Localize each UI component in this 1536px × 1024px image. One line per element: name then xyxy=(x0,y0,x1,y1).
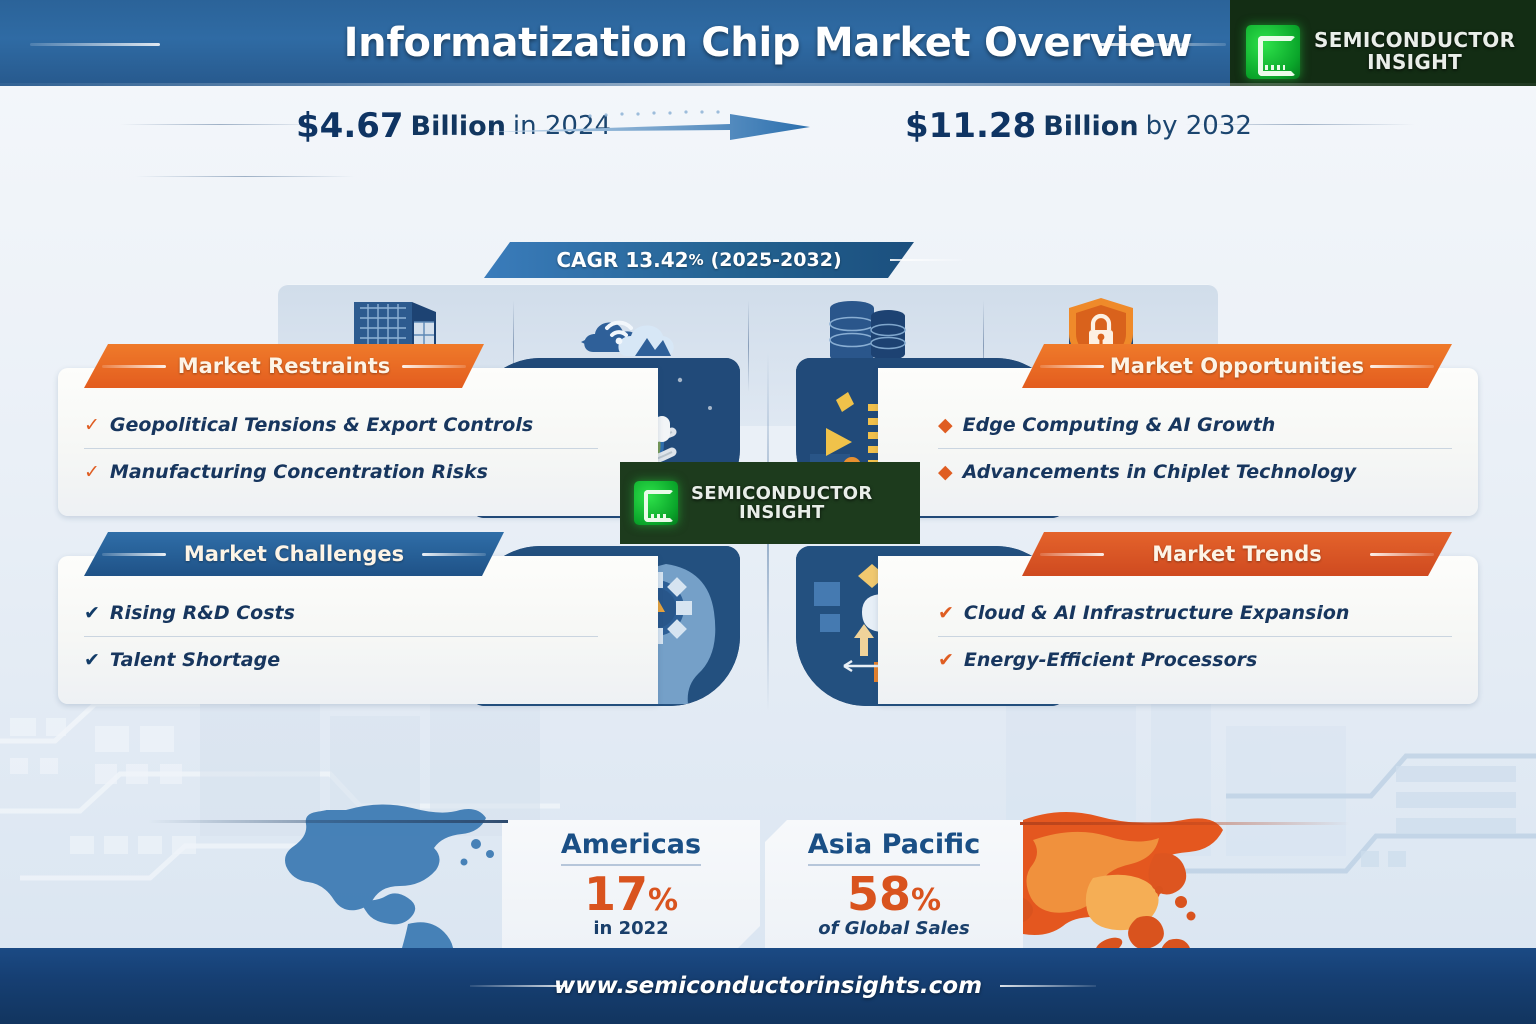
region-rule-left xyxy=(148,820,508,823)
panel-title-text: Market Restraints xyxy=(166,354,402,378)
cagr-label: CAGR xyxy=(556,248,618,272)
cagr-rule-right xyxy=(890,259,962,261)
region-percent-value: 17 xyxy=(584,867,648,921)
list-item[interactable]: ✔ Talent Shortage xyxy=(84,636,598,683)
list-item[interactable]: ◆ Advancements in Chiplet Technology xyxy=(938,448,1452,495)
panel-bullets: ◆ Edge Computing & AI Growth ◆ Advanceme… xyxy=(878,402,1478,495)
diamond-bullet-icon: ◆ xyxy=(938,414,953,436)
list-item[interactable]: ✓ Manufacturing Concentration Risks xyxy=(84,448,598,495)
panel-market-challenges: Market Challenges ✔ Rising R&D Costs ✔ T… xyxy=(58,532,658,704)
check-icon: ✓ xyxy=(84,414,100,436)
list-item-label: Rising R&D Costs xyxy=(110,602,295,624)
list-item-label: Manufacturing Concentration Risks xyxy=(110,461,488,483)
panel-bullets: ✔ Rising R&D Costs ✔ Talent Shortage xyxy=(58,590,658,683)
check-icon: ✔ xyxy=(938,602,954,624)
stat-end-period: by 2032 xyxy=(1146,111,1252,141)
panel-bullets: ✔ Cloud & AI Infrastructure Expansion ✔ … xyxy=(878,590,1478,683)
stat-hairline-left xyxy=(120,124,320,125)
watermark-line1: SEMICONDUCTOR xyxy=(691,483,873,504)
cagr-value: 13.42 xyxy=(625,248,688,272)
cagr-range: (2025-2032) xyxy=(711,249,842,271)
ribbon-rule-left xyxy=(1040,365,1104,368)
asia-pacific-map-icon xyxy=(985,794,1285,948)
region-name: Asia Pacific xyxy=(808,829,980,866)
region-name: Americas xyxy=(561,829,701,866)
check-icon: ✔ xyxy=(84,602,100,624)
panel-title-challenges: Market Challenges xyxy=(84,532,504,576)
ribbon-rule-left xyxy=(102,365,166,368)
list-item[interactable]: ✔ Energy-Efficient Processors xyxy=(938,636,1452,683)
list-item[interactable]: ✓ Geopolitical Tensions & Export Control… xyxy=(84,402,598,448)
panel-title-text: Market Trends xyxy=(1104,542,1370,566)
panel-market-trends: Market Trends ✔ Cloud & AI Infrastructur… xyxy=(878,532,1478,704)
cagr-hairline-left xyxy=(135,176,355,177)
region-stats-band: Americas 17% in 2022 Asia Pacific 58% of… xyxy=(0,798,1536,948)
cagr-banner: CAGR 13.42% (2025-2032) xyxy=(484,242,914,278)
ribbon-rule-right xyxy=(402,365,466,368)
list-item[interactable]: ✔ Rising R&D Costs xyxy=(84,590,598,636)
footer-url[interactable]: www.semiconductorinsights.com xyxy=(554,973,982,999)
region-percent: 17% xyxy=(584,870,678,918)
ribbon-rule-right xyxy=(1370,553,1434,556)
region-card-americas[interactable]: Americas 17% in 2022 xyxy=(502,820,760,948)
stat-end-value: $11.28 Billion by 2032 xyxy=(905,100,1252,152)
percent-symbol: % xyxy=(911,883,941,918)
panel-market-restraints: Market Restraints ✓ Geopolitical Tension… xyxy=(58,344,658,516)
growth-arrow-icon xyxy=(480,108,810,146)
brand-logo-line2: INSIGHT xyxy=(1314,52,1515,74)
region-rule-right xyxy=(1020,822,1350,825)
brand-logo[interactable]: SEMICONDUCTOR INSIGHT xyxy=(1230,0,1536,86)
watermark-logo: SEMICONDUCTOR INSIGHT xyxy=(620,462,920,544)
diamond-bullet-icon: ◆ xyxy=(938,461,953,483)
list-item-label: Advancements in Chiplet Technology xyxy=(963,461,1356,483)
ribbon-rule-right xyxy=(422,553,486,556)
watermark-line2: INSIGHT xyxy=(691,503,873,522)
region-percent-value: 58 xyxy=(847,867,911,921)
infographic-root: Informatization Chip Market Overview SEM… xyxy=(0,0,1536,1024)
list-item[interactable]: ◆ Edge Computing & AI Growth xyxy=(938,402,1452,448)
check-icon: ✔ xyxy=(84,649,100,671)
list-item-label: Energy-Efficient Processors xyxy=(964,649,1257,671)
stat-end-unit: Billion xyxy=(1043,111,1138,142)
panel-market-opportunities: Market Opportunities ◆ Edge Computing & … xyxy=(878,344,1478,516)
header-bar: Informatization Chip Market Overview SEM… xyxy=(0,0,1536,86)
footer-rule-left xyxy=(470,985,566,987)
check-icon: ✔ xyxy=(938,649,954,671)
region-percent: 58% xyxy=(847,870,941,918)
brand-logo-text: SEMICONDUCTOR INSIGHT xyxy=(1314,30,1515,73)
list-item-label: Edge Computing & AI Growth xyxy=(963,414,1276,436)
panel-bullets: ✓ Geopolitical Tensions & Export Control… xyxy=(58,402,658,495)
list-item-label: Cloud & AI Infrastructure Expansion xyxy=(964,602,1350,624)
chip-logo-icon xyxy=(1246,25,1300,79)
watermark-text: SEMICONDUCTOR INSIGHT xyxy=(691,484,873,523)
region-card-asia-pacific[interactable]: Asia Pacific 58% of Global Sales xyxy=(765,820,1023,948)
cagr-symbol: % xyxy=(689,251,704,269)
panel-title-trends: Market Trends xyxy=(1022,532,1452,576)
title-rule-right xyxy=(1096,43,1226,46)
region-subtext: in 2022 xyxy=(593,918,668,939)
ribbon-rule-left xyxy=(102,553,166,556)
footer-rule-right xyxy=(1000,985,1096,987)
percent-symbol: % xyxy=(648,883,678,918)
panel-title-text: Market Opportunities xyxy=(1104,354,1370,378)
ribbon-rule-right xyxy=(1370,365,1434,368)
check-icon: ✓ xyxy=(84,461,100,483)
ribbon-rule-left xyxy=(1040,553,1104,556)
stat-end-amount: $11.28 xyxy=(905,106,1036,146)
panel-title-opportunities: Market Opportunities xyxy=(1022,344,1452,388)
panel-title-text: Market Challenges xyxy=(166,542,422,566)
footer-bar: www.semiconductorinsights.com xyxy=(0,948,1536,1024)
stat-start-amount: $4.67 xyxy=(296,106,404,146)
list-item-label: Talent Shortage xyxy=(110,649,280,671)
brand-logo-line1: SEMICONDUCTOR xyxy=(1314,28,1515,52)
list-item-label: Geopolitical Tensions & Export Controls xyxy=(110,414,533,436)
region-subtext: of Global Sales xyxy=(818,918,969,939)
list-item[interactable]: ✔ Cloud & AI Infrastructure Expansion xyxy=(938,590,1452,636)
chip-logo-icon xyxy=(634,481,678,525)
panel-title-restraints: Market Restraints xyxy=(84,344,484,388)
